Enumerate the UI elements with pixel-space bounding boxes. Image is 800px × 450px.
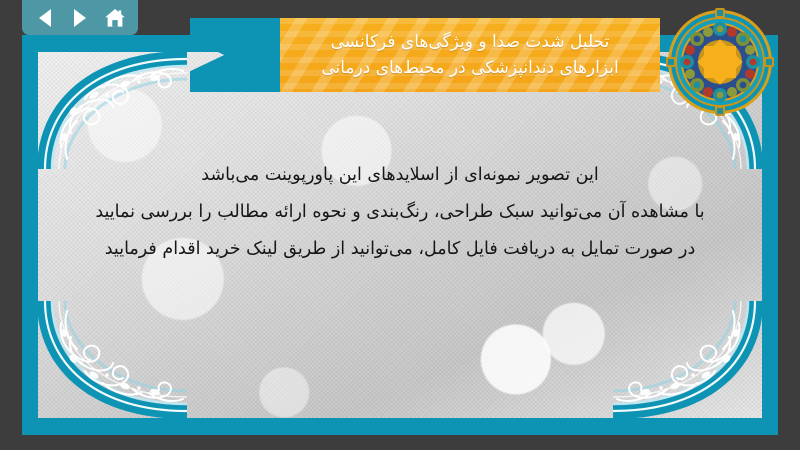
triangle-right-icon <box>74 9 86 27</box>
title-line-1: تحلیل شدت صدا و ویژگی‌های فرکانسی <box>331 29 610 55</box>
body-line-2: با مشاهده آن می‌توانید سبک طراحی، رنگ‌بن… <box>78 194 722 231</box>
persian-medallion-ornament <box>666 8 774 116</box>
title-text-panel: تحلیل شدت صدا و ویژگی‌های فرکانسی ابزاره… <box>280 18 660 92</box>
slide-title-banner: تحلیل شدت صدا و ویژگی‌های فرکانسی ابزاره… <box>190 18 660 92</box>
next-slide-button[interactable] <box>66 5 94 31</box>
slide-body-text: این تصویر نمونه‌ای از اسلایدهای این پاور… <box>78 157 722 268</box>
slide-canvas: این تصویر نمونه‌ای از اسلایدهای این پاور… <box>38 52 762 418</box>
slide-navigation-bar <box>22 0 138 35</box>
arabesque-corner-ornament-top-left <box>38 52 187 169</box>
slide-frame: این تصویر نمونه‌ای از اسلایدهای این پاور… <box>22 35 778 435</box>
home-button[interactable] <box>101 5 129 31</box>
home-icon <box>104 8 126 28</box>
previous-slide-button[interactable] <box>31 5 59 31</box>
body-line-3: در صورت تمایل به دریافت فایل کامل، می‌تو… <box>78 231 722 268</box>
title-line-2: ابزارهای دندانپزشکی در محیط‌های درمانی <box>321 55 618 81</box>
title-arrow-shape <box>190 18 280 92</box>
slide-viewer: این تصویر نمونه‌ای از اسلایدهای این پاور… <box>0 0 800 450</box>
arabesque-corner-ornament-bottom-right <box>613 301 762 418</box>
body-line-1: این تصویر نمونه‌ای از اسلایدهای این پاور… <box>78 157 722 194</box>
triangle-left-icon <box>39 9 51 27</box>
arabesque-corner-ornament-bottom-left <box>38 301 187 418</box>
